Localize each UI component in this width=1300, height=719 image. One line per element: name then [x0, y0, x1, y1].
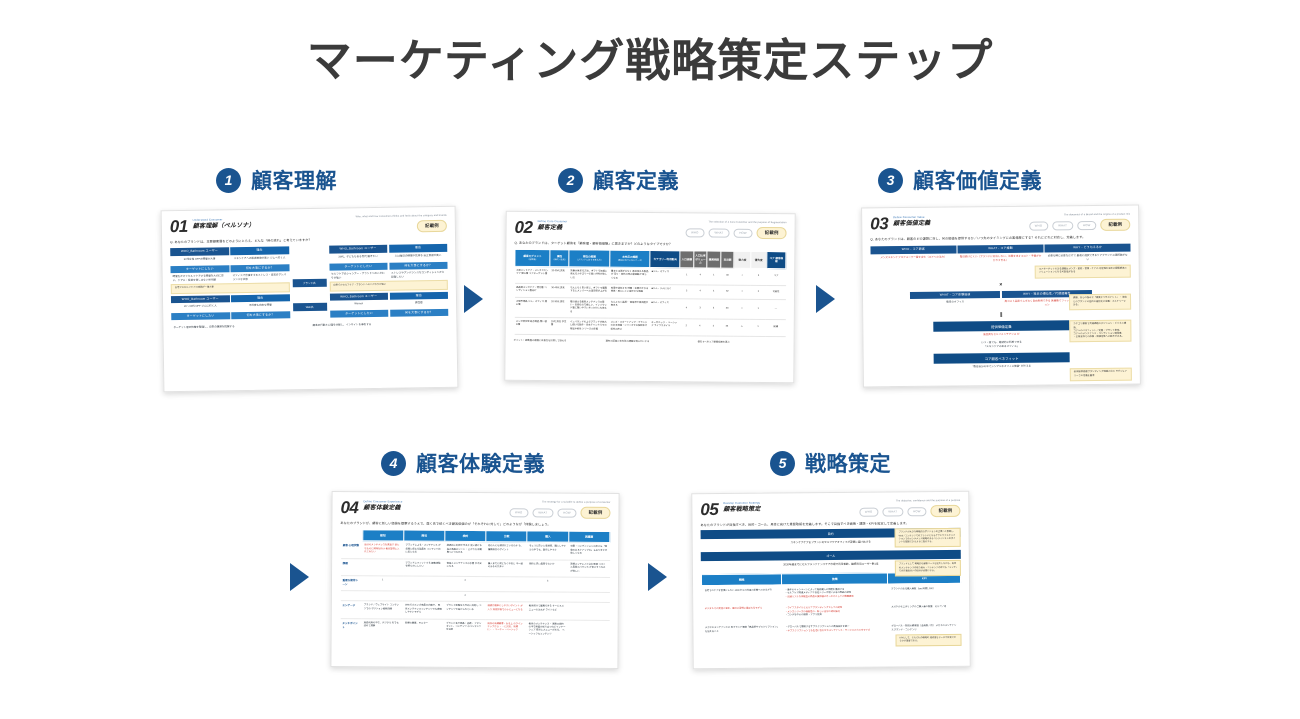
doc04-cell: 既存の新規顧客・ある上 のラインナップから ・・に対応、新規に・・ コーナー・ベ… [485, 619, 526, 640]
doc02-cell: ■ジム・ジムに行く [650, 285, 680, 299]
doc04-cell: ブランド体験を大きめに共有し コンテンツで届けられている [444, 602, 485, 620]
doc04-table-row: 課題 ブランドにフィットする 顧客体験を明らかにしたい 価格とメンテナンスの手間… [341, 558, 610, 577]
doc03-note-box: コアターゲットのある課題はメンズ・家庭・習慣・ケアの 可能性を深めの課題解決のソ… [1035, 265, 1131, 278]
doc01-question: Q. あなたのブランドは、主要顧客層をどのようにとらえ、どんな「時の流れ」と考え… [170, 236, 447, 245]
doc01-number: 01 [170, 218, 188, 235]
doc04-cell [362, 591, 403, 602]
doc01-cell: 30代女性 OFFの時間が大事 [170, 255, 229, 264]
doc04-cell: 新規の顧客、モニター [403, 619, 444, 640]
doc04-row-label [340, 590, 362, 601]
doc02-example-badge: 記載例 [757, 227, 787, 239]
doc04-row-label: エンゲージ [340, 601, 362, 618]
doc04-cell [568, 602, 609, 620]
doc02-cell: 1 [680, 268, 694, 285]
doc02-pill-who[interactable]: WHO [685, 228, 705, 237]
doc05-measure-line: ・サブスクリプションでも生活に合わせたメンテナンス・サービスのカスタマイズ [785, 629, 885, 633]
doc04-cell [568, 592, 609, 603]
doc03-operator-equals: ∥ [871, 311, 1131, 320]
doc01-block: ターゲットにしたい何を大事にするか？ [330, 308, 449, 317]
doc02-cell: オーガニック・ ベーシック ライフスタイル [650, 319, 680, 336]
doc01-bar: ターゲットにしたい [171, 312, 230, 320]
doc04-pill-how[interactable]: HOW [557, 508, 576, 517]
doc02-footer-note: ポイント：顧客層の規模と成長性を比較して捉える [514, 338, 602, 343]
doc05-measure-line: ・コンデを中心の提案・アプリ投資 [785, 614, 885, 618]
doc02-col-header: 優先度 [750, 252, 766, 269]
doc02-col-header: 未充足の課題（解決されていないニーズ） [610, 251, 651, 268]
doc01-cell: Women [330, 300, 389, 309]
doc05-col-header: 施策 [782, 573, 888, 585]
doc03-question: Q. あなたのブランドは、顧客のどの課題に対し、何の価値を提供するか／いつ先のタ… [870, 235, 1130, 242]
doc04-cell: 期待と良い品質でないか [527, 560, 568, 578]
doc02-cell: 1 [750, 319, 766, 336]
doc04-row-label: 顧客 心理状態 [341, 541, 363, 558]
doc05-cell-kpi: メガネのモニタリングのご購入者の数量 セルフ／月 [888, 602, 961, 621]
doc03-number: 03 [870, 215, 888, 232]
doc03-operator-multiply: × [871, 280, 1131, 289]
doc04-cell: 自分のメンテナンスを見直す 新たなものに興味を持つ 毎日習慣に入れてみたい [362, 541, 403, 559]
doc01-block: ターゲットにしたい何を大事にするか？ セルフケアのシャンプー・ブランドへのこだわ… [329, 261, 448, 291]
arrow-step3-to-step4 [290, 563, 309, 591]
doc04-cell: ブランド名や商品・店頭・ アテンダント、コンテンツ のコンテンツを活用 [444, 619, 485, 640]
doc03-pill-what[interactable]: WHAT [1052, 221, 1073, 230]
step-badge-4: 4 [381, 451, 406, 476]
step-label-3: 顧客価値定義 [913, 165, 1042, 195]
doc05-table-row: 自宅でのケアを習慣にしたい Webからの利用の定着へのひろがり ・通年のキャンペ… [702, 583, 961, 604]
doc04-cell: 効果・コンディションの良さも「価値のあるケアップの」もありますが欲しくなる [568, 543, 609, 561]
doc01-cell: ストレスやアンバランスなコンディションから回復したい [389, 269, 448, 281]
doc04-cell: 施設利用の中で、デジタル 内でも改めて理解 [362, 618, 403, 639]
doc03-cell: 毎日のオフィス [910, 298, 1000, 310]
doc02-col-header: 支出額 [721, 252, 735, 269]
doc04-col-header: 再購買 [568, 532, 609, 543]
doc02-cell: 効果が高まる方法、ギフトで気軽に使えるカテゴリーで高い評判が欲しい方 [569, 267, 610, 284]
doc02-cell: 候補 [766, 320, 785, 337]
doc04-col-header: 購入 [527, 531, 568, 542]
doc02-footer: ポイント：顧客層の規模と成長性を比較して捉える 現在の認識と未充足の課題を明らか… [514, 338, 786, 344]
doc04-cell [568, 620, 609, 641]
doc01-footer-note: 顧客の行動と心理を分解し、インサイトを導出する [311, 320, 449, 330]
doc04-row-label: 課題 [341, 558, 363, 575]
doc01-mid-tag: ブランド名 [292, 279, 326, 288]
doc01-cell: スキンケアへの投資意欲が高い ジムへ行く人 [230, 254, 289, 263]
doc02-cell: 量または質が少なく 毎日使える製品が 足り・旅先の時の最適解が 欲しくなる [609, 267, 650, 284]
doc02-cell: 毎日使える最新メンテナンスの買い・安価なので嬉しい。インバウンド層に買いやすいき… [569, 298, 610, 319]
document-thumbnail-02[interactable]: 02 Define Core Customer 顧客定義 The selecti… [504, 211, 795, 384]
doc02-cell: 効果や消耗する 時間・手間がかかる 感覚・感じにくい細やかな感触 [609, 284, 650, 298]
doc04-table-row: タッチポイント 施設利用の中で、デジタル 内でも改めて理解 新規の顧客、モニター… [340, 618, 609, 640]
doc05-cell-measures: ・ライフスタイルとセルフブランディングとしての認知 ・メンズシリーズの機能性の・… [782, 603, 888, 623]
doc02-cell: 2 [680, 285, 694, 299]
document-thumbnail-05[interactable]: 05 Develop Customer Strategy 顧客戦略策定 The … [691, 491, 971, 669]
doc04-cell: 毎月のメンテナンス・ 通常の期待の中で商品が成り立つなどインナーシェア 提示にメ… [527, 619, 568, 640]
doc03-row2-cells: 毎日のオフィス 高コスト品質でムダなく自由利用できる 高機能でフィットするソリュ… [910, 297, 1092, 310]
doc04-cell [486, 577, 527, 592]
doc04-note: The strategy for a suitable to define a … [509, 500, 611, 504]
doc03-pill-how[interactable]: HOW [1077, 221, 1097, 230]
doc02-question: Q. あなたのブランドは、ターゲット顧客を「顧客層・顧客価値観」に置きますか？ど… [514, 241, 786, 248]
doc05-callout: ブランドが大きな戦略的なポジションの立案へと意識し、Web / コンテンツでのブ… [895, 528, 961, 547]
doc02-cell: 40 [721, 268, 735, 285]
doc03-note-box: 課題、自らの強みで「徹底すべきポイント」 ・ 競合とのブランドの独自の差別化の定… [1069, 294, 1131, 310]
doc02-cell: 30-40代 男女 [550, 284, 569, 298]
doc02-cell: 4 [693, 285, 707, 299]
doc04-cell [527, 592, 568, 603]
doc02-cell: 20-30代 男女 [550, 267, 569, 284]
doc04-cell: 2 [444, 576, 485, 591]
arrow-step1-to-step2 [464, 285, 483, 313]
doc03-funnel-body: "毎日自分の中でシンプルなオフィス体験" が叶える [934, 362, 1069, 371]
doc02-pill-what[interactable]: WHAT [708, 228, 729, 237]
slide-canvas: マーケティング戦略策定ステップ 1 顧客理解 2 顧客定義 3 顧客価値定義 4… [0, 0, 1300, 719]
doc03-note: The dynamics of a Brand and the origins … [1029, 213, 1131, 217]
doc02-cell: 可能性 [766, 286, 785, 300]
doc02-cell: 3 [693, 299, 707, 319]
step-heading-3: 3 顧客価値定義 [878, 165, 1042, 195]
doc04-title-jp: 顧客体験定義 [363, 504, 402, 513]
page-title: マーケティング戦略策定ステップ [0, 24, 1300, 89]
doc01-cell: 男性層 [390, 299, 449, 308]
doc01-cell: オフィスで仕事をするストレス・日常のアンバランスな状態 [231, 271, 290, 283]
doc02-footer-note: 優先すべきコア顧客候補を選ぶ [698, 340, 786, 345]
doc02-header: 02 Define Core Customer 顧客定義 The selecti… [515, 219, 787, 239]
doc01-example-badge: 記載例 [417, 220, 447, 232]
step-badge-3: 3 [878, 168, 903, 193]
doc04-cell: 継続が簡単にしやすいポイント が入り 好感評価でのレビューになる [485, 602, 526, 620]
doc02-cell: ■ジム・オフィス [650, 268, 680, 285]
step-label-5: 戦略策定 [805, 448, 891, 478]
doc05-callout: ブランドとして 戦略的な顧客ベースを拡大しながら、毎日のメンテナンスの取り組み・… [895, 560, 961, 576]
doc02-cell: メンズ特化型 既存商品 買い替え層 [514, 317, 549, 334]
doc01-body: WHO_Bathroom ユーザー理由 30代女性 OFFの時間が大事スキンケア… [170, 244, 448, 320]
doc01-cell: 20〜30代 OFF ジムに行く人 [171, 302, 230, 311]
doc02-cell: 3 [707, 299, 721, 319]
doc03-funnel-2: コア顧客ベネフィット "毎日自分の中でシンプルなオフィス体験" が叶える [934, 352, 1069, 371]
doc02-cell: 4 [693, 268, 707, 285]
doc03-funnel-1: 提供価値定義 高品質なセルフメンテナンス が いつ・誰でも、継続的に利用できる … [934, 321, 1069, 351]
doc01-cell: 人は毎日の時間や気持ち 自立意欲が高い [389, 252, 448, 261]
doc05-note: The objective, confidence and the purpos… [859, 499, 961, 503]
doc04-col-header: 検討 [445, 531, 486, 542]
doc05-pill-how[interactable]: HOW [907, 507, 927, 516]
doc02-table-row: 大型市場品 ジム・オフィス 関心層 20-30代 男性 毎日使える最新メンテナン… [514, 297, 785, 320]
step-label-4: 顧客体験定義 [416, 448, 545, 478]
doc02-number: 02 [515, 219, 533, 236]
doc04-number: 04 [340, 499, 358, 516]
doc02-col-header: コア 顧客候補 [767, 252, 786, 269]
step-label-2: 顧客定義 [593, 165, 679, 195]
step-badge-1: 1 [216, 168, 241, 193]
doc02-pill-how[interactable]: HOW [733, 228, 753, 237]
doc02-cell: インバウンドの上でブランドが拡大し続ける動き・日本チャンネルでの相談や相性 シリ… [568, 318, 609, 335]
doc01-cell: 30代、子どももある世代 働きたい [329, 253, 388, 262]
doc02-col-header: 購買頻度 [707, 251, 721, 268]
doc05-cell-strategy: 自宅でのケアを習慣にしたい Webからの利用の定着へのひろがり [702, 585, 782, 605]
doc01-middle-connectors: ブランド名 Web名 [292, 246, 327, 318]
doc02-cell: 1 [707, 268, 721, 285]
doc02-cell: 大型ハンドケア・メンズスキンケア 関心層 コアターゲット層 [515, 266, 550, 283]
doc05-cell-kpi: ブランドのある購入者数（am/月間1,000） [888, 583, 961, 603]
doc04-cell: 4 [444, 591, 485, 602]
doc03-example-badge: 記載例 [1100, 219, 1130, 231]
doc03-note-box: カテゴリ顧客で共通課題のポジション・ビジネス構造、 コアへのベネフィット／定義・… [1069, 320, 1131, 343]
doc02-cell: 高品質メンズケア・特化層 コンディション層向け [514, 283, 549, 297]
doc04-cell: 購入までに何となく不安と 不一致のあるのが多い [486, 559, 527, 577]
doc03-row1-cells: メンズスキンケアコアユーザー層を含む（コアへの注力） 毎日続けにくい（ブランドに… [871, 252, 1131, 266]
step-label-1: 顧客理解 [251, 165, 337, 195]
doc02-note: The selection of a Core Customer and the… [685, 220, 787, 224]
doc04-cell: ブランドによる・メンテナンス が気軽に使える製品を コンテンツ的に気になる [403, 541, 444, 559]
doc02-col-header: 魅力度 [734, 252, 750, 269]
doc03-note-box: 全体提供価値ブランディング戦略の中の ラグジュアリーさの定義を要素 [1070, 368, 1132, 381]
doc01-header: 01 Understand Consumer 顧客理解（ペルソナ） Who, w… [170, 214, 447, 236]
doc02-cell: 20代 男性 学生層 [549, 318, 568, 335]
doc05-cell-strategy: デジタルでの発信と強化、毎日の習慣に選ばれるモデル [702, 604, 782, 623]
doc05-pill-who[interactable]: WHO [859, 507, 879, 516]
doc02-cell: 32 [720, 285, 734, 299]
doc04-cell: Webでのメンズ商品の内容や、 既存メンテナンスコンテンツでも理解しやすいモデル [403, 601, 444, 619]
step-heading-4: 4 顧客体験定義 [381, 448, 545, 478]
doc01-footer: ターゲット層の特徴を整理し、日常の課題を把握する 顧客の行動と心理を分解し、イン… [171, 320, 448, 332]
doc03-funnel-body: いつ・誰でも、継続的に利用できる 「スキンケアのあるオフィス」 [934, 338, 1069, 351]
doc02-cell: 4 [693, 319, 707, 336]
doc03-pill-who[interactable]: WHO [1029, 221, 1049, 230]
doc05-number: 05 [700, 501, 718, 518]
document-thumbnail-01[interactable]: 01 Understand Consumer 顧客理解（ペルソナ） Who, w… [161, 206, 459, 393]
doc01-bar: ターゲットにしたい [330, 309, 389, 317]
doc02-col-header: 現在の認識（ブランドに対する考え方） [569, 250, 610, 267]
doc02-segmentation-table: 顧客セグメント（分類名） 属性（年代・性別） 現在の認識（ブランドに対する考え方… [514, 249, 787, 337]
doc02-col-header: 人口規模 [680, 251, 694, 268]
doc01-highlight: 自宅でのセルフケアの時間が一番大事 [171, 283, 290, 294]
doc02-cell: — [766, 299, 785, 319]
doc02-cell: × [734, 299, 750, 319]
doc04-cell: 他の人にも選ばれているのか も、購買検討のポイント [486, 542, 527, 560]
doc03-cell: 毎日続けにくい（ブランドに対応しない、効果を出すコスト・手間がかかりすぎる） [958, 252, 1044, 264]
doc04-header: 04 Define Consumer Experience 顧客体験定義 The… [340, 499, 610, 519]
doc01-footer-note: ターゲット層の特徴を整理し、日常の課題を把握する [171, 322, 309, 332]
doc04-pill-what[interactable]: WHAT [532, 508, 553, 517]
doc04-cell: 1 [362, 576, 403, 591]
arrow-step4-to-step5 [648, 563, 667, 591]
step-badge-5: 5 [770, 451, 795, 476]
doc04-cell [403, 576, 444, 591]
doc04-table-row: エンゲージ ブランド／ウェブサイト コンテンツでの ポジション戦略詳細 Webで… [340, 601, 609, 620]
doc02-cell: メンズ・スタートアップ・ブランドのある価値・シリーズでの個別化や相性の良さ [609, 318, 650, 335]
doc05-body: 目的 スキンケアケアをブランドのセルフケアオフィスが習慣に届け拡げる ゴール 2… [701, 528, 962, 638]
doc04-cell: ちょうど良いと価格感、購入しやすさの中でも、期待しやすさ [527, 542, 568, 560]
doc02-cell: 4 [707, 285, 721, 299]
doc04-col-header: 比較 [486, 531, 527, 542]
doc05-cell-measures: ・グローバルで展開するサブスクリプションの商品設計を統一 ・サブスクリプションで… [782, 621, 888, 637]
arrow-step2-to-step3 [816, 285, 835, 313]
step-heading-5: 5 戦略策定 [770, 448, 891, 478]
doc02-footer-note: 現在の認識と未充足の課題を明らかにする [606, 339, 694, 344]
doc01-block: WHO_Bathroom ユーザー理由 30代女性 OFFの時間が大事スキンケア… [170, 247, 289, 264]
doc03-body: WHO - コア顧客 WHAT - コア課題 WHY - どう与えるか メンズス… [870, 244, 1131, 372]
doc04-table-row: 顧客 心理状態 自分のメンテナンスを見直す 新たなものに興味を持つ 毎日習慣に入… [341, 541, 610, 560]
doc01-cell: 時間をかけてセルフケアする時間を大切に思い、ケアに・投資を惜しまない世代観 [171, 272, 230, 284]
doc02-cell: 2 [750, 286, 766, 300]
doc04-example-badge: 記載例 [581, 507, 611, 519]
step-badge-2: 2 [558, 168, 583, 193]
doc01-block: WHO_Bathroom ユーザー理由 30代、子どももある世代 働きたい人は毎… [329, 244, 448, 261]
doc03-header: 03 Define Consumer Value 顧客価値定義 The dyna… [870, 213, 1130, 234]
doc01-bar: 何を大事にするか？ [231, 311, 290, 319]
doc03-row2: WHAT - コア体験価値 WHY - 独自の優位性／代替困難性 毎日のオフィス… [910, 290, 1092, 311]
doc02-cell: × [734, 285, 750, 299]
doc05-pill-what[interactable]: WHAT [882, 507, 903, 516]
doc02-col-header: カテゴリー利用動向 [650, 251, 680, 268]
doc04-cell: ブランド／ウェブサイト コンテンツでの ポジション戦略詳細 [362, 601, 403, 619]
doc02-cell: 大型市場品 ジム・オフィス 関心層 [514, 297, 549, 318]
doc05-title-jp: 顧客戦略策定 [723, 505, 760, 514]
doc02-col-header: 顧客セグメント（分類名） [515, 250, 550, 267]
doc03-cell: メンズスキンケアコアユーザー層を含む（コアへの注力） [871, 253, 957, 265]
doc02-col-header: 人口比率 ボリューム [694, 251, 708, 268]
doc02-cell: 4 [707, 319, 721, 336]
doc04-cell: 習慣メンテに入り込む環境 コストと品質のバランス が良さそうなのが欲しい [568, 560, 609, 578]
doc01-cell: 平日夜も自由な時間 [231, 301, 290, 310]
doc04-cell [403, 591, 444, 602]
doc02-cell: ■ジム・オフィス [650, 298, 680, 319]
doc05-col-header: 戦略 [701, 574, 781, 586]
document-thumbnail-03[interactable]: 03 Define Consumer Value 顧客価値定義 The dyna… [861, 205, 1141, 388]
doc01-bar: 何を大事にするか？ [390, 308, 449, 316]
doc04-cell [486, 591, 527, 602]
doc01-mid-tag: Web名 [293, 303, 327, 312]
doc01-block: WHO_Bathroom ユーザー理由 Women男性層 [329, 291, 448, 308]
doc05-table-row: デジタルでの発信と強化、毎日の習慣に選ばれるモデル ・ライフスタイルとセルフブラ… [702, 602, 961, 623]
doc05-strategy-table: 戦略 施策 KPI 自宅でのケアを習慣にしたい Webからの利用の定着へのひろが… [701, 572, 962, 639]
doc05-example-badge: 記載例 [931, 505, 961, 517]
doc01-block: WHO_Bathroom ユーザー理由 20〜30代 OFF ジムに行く人平日夜… [171, 294, 290, 311]
doc01-block: ターゲットにしたい何を大事にするか？ 時間をかけてセルフケアする時間を大切に思い… [170, 264, 289, 294]
doc04-cell: 毎月続けて購買できる サービスメニューの注文が ライトなど [527, 602, 568, 620]
doc04-cell [362, 558, 403, 576]
doc04-col-header: 興味 [404, 530, 445, 541]
doc05-measure-line: ・店舗リアルな体験型の商品の実体験のきっかけとしての情報提供 [785, 595, 885, 599]
doc01-highlight: 自宅でのセルフケア・ブランドへのこだわりが強い [329, 280, 448, 291]
doc01-left-column: WHO_Bathroom ユーザー理由 30代女性 OFFの時間が大事スキンケア… [170, 247, 290, 320]
doc04-journey-table: 認知 興味 検討 比較 購入 再購買 顧客 心理状態 自分のメンテナンスを見直す… [340, 530, 611, 641]
doc02-cell: 4 [680, 299, 694, 319]
doc02-cell: なんとなく品質・ 価格帯で自由度が高まる [609, 298, 650, 319]
doc03-cell: 必要な時に必要なだけで 最適に選択できるケアブランドの選択肢がない [1045, 252, 1131, 264]
doc02-title-jp: 顧客定義 [537, 224, 567, 233]
doc04-corner-cell [341, 530, 363, 541]
document-thumbnail-04[interactable]: 04 Define Consumer Experience 顧客体験定義 The… [330, 491, 619, 669]
doc04-cell: ブランドにフィットする 顧客体験を明らかにしたい [403, 559, 444, 577]
doc04-pill-who[interactable]: WHO [509, 508, 528, 517]
doc05-cell-strategy: メガネのメンテナンスの 再ブランド価値「高品質サブスクリプション」を加えること [702, 622, 782, 638]
doc01-right-column: WHO_Bathroom ユーザー理由 30代、子どももある世代 働きたい人は毎… [329, 244, 449, 317]
doc04-cell: 3 [527, 577, 568, 592]
doc04-col-header: 認知 [362, 530, 403, 541]
doc01-cell: セルフケアのシャンプー・ブランドへのこだわりが強い [329, 270, 388, 282]
doc02-col-header: 属性（年代・性別） [550, 250, 569, 267]
doc05-callout: KPIとして、それぞれの戦略の 達成度をデータで計測できるかが重要である。 [895, 634, 961, 647]
doc02-cell: 2 [679, 319, 693, 336]
doc04-row-label: タッチポイント [340, 618, 362, 638]
doc04-cell [568, 577, 609, 592]
doc01-block: ターゲットにしたい何を大事にするか？ [171, 311, 290, 320]
doc02-cell: なんとなく良い感じ、ギフトで購買するとメンバーへの満足感が上がる [569, 284, 610, 298]
doc04-row-label: 重要な期待シーン [340, 576, 362, 591]
step-heading-1: 1 顧客理解 [216, 165, 337, 195]
doc04-cell: 価格とメンテナンスの手間 が不安になる [445, 559, 486, 577]
doc01-title-jp: 顧客理解（ペルソナ） [193, 221, 255, 230]
doc02-cell: 3 [750, 269, 766, 286]
doc02-cell: 30 [720, 299, 734, 319]
doc01-note: Who, what and how consumers thinks and f… [356, 214, 447, 219]
doc05-cell-measures: ・通年のキャンペーンによって継続購入の頻度を獲得する ・セルフケア関連メディアや… [782, 584, 888, 604]
doc03-title-jp: 顧客価値定義 [893, 219, 930, 228]
doc05-header: 05 Develop Customer Strategy 顧客戦略策定 The … [700, 499, 960, 519]
doc02-table-row: メンズ特化型 既存商品 買い替え層 20代 男性 学生層 インバウンドの上でブラ… [514, 317, 785, 336]
doc02-cell: 1 [750, 299, 766, 319]
doc02-cell: 20-30代 男性 [550, 297, 569, 317]
doc05-question: あなたのブランドが目指すべき、目的・ゴール、具体に向けた重要取組を定義します。そ… [700, 521, 960, 528]
doc02-cell: ○ [734, 268, 750, 285]
doc02-cell: 33 [720, 319, 734, 336]
doc02-cell: コア [767, 269, 786, 286]
step-heading-2: 2 顧客定義 [558, 165, 679, 195]
doc04-cell: 継続的に利用できるか 使い続ける為の商品のシーン・ 上がり方は購買へとつながる [445, 542, 486, 560]
doc04-question: あなたのブランドが、顧客に新しい価値を提案するうえで、届く先で続くべき顧客価値の… [340, 521, 610, 527]
doc02-cell: △ [734, 319, 750, 336]
